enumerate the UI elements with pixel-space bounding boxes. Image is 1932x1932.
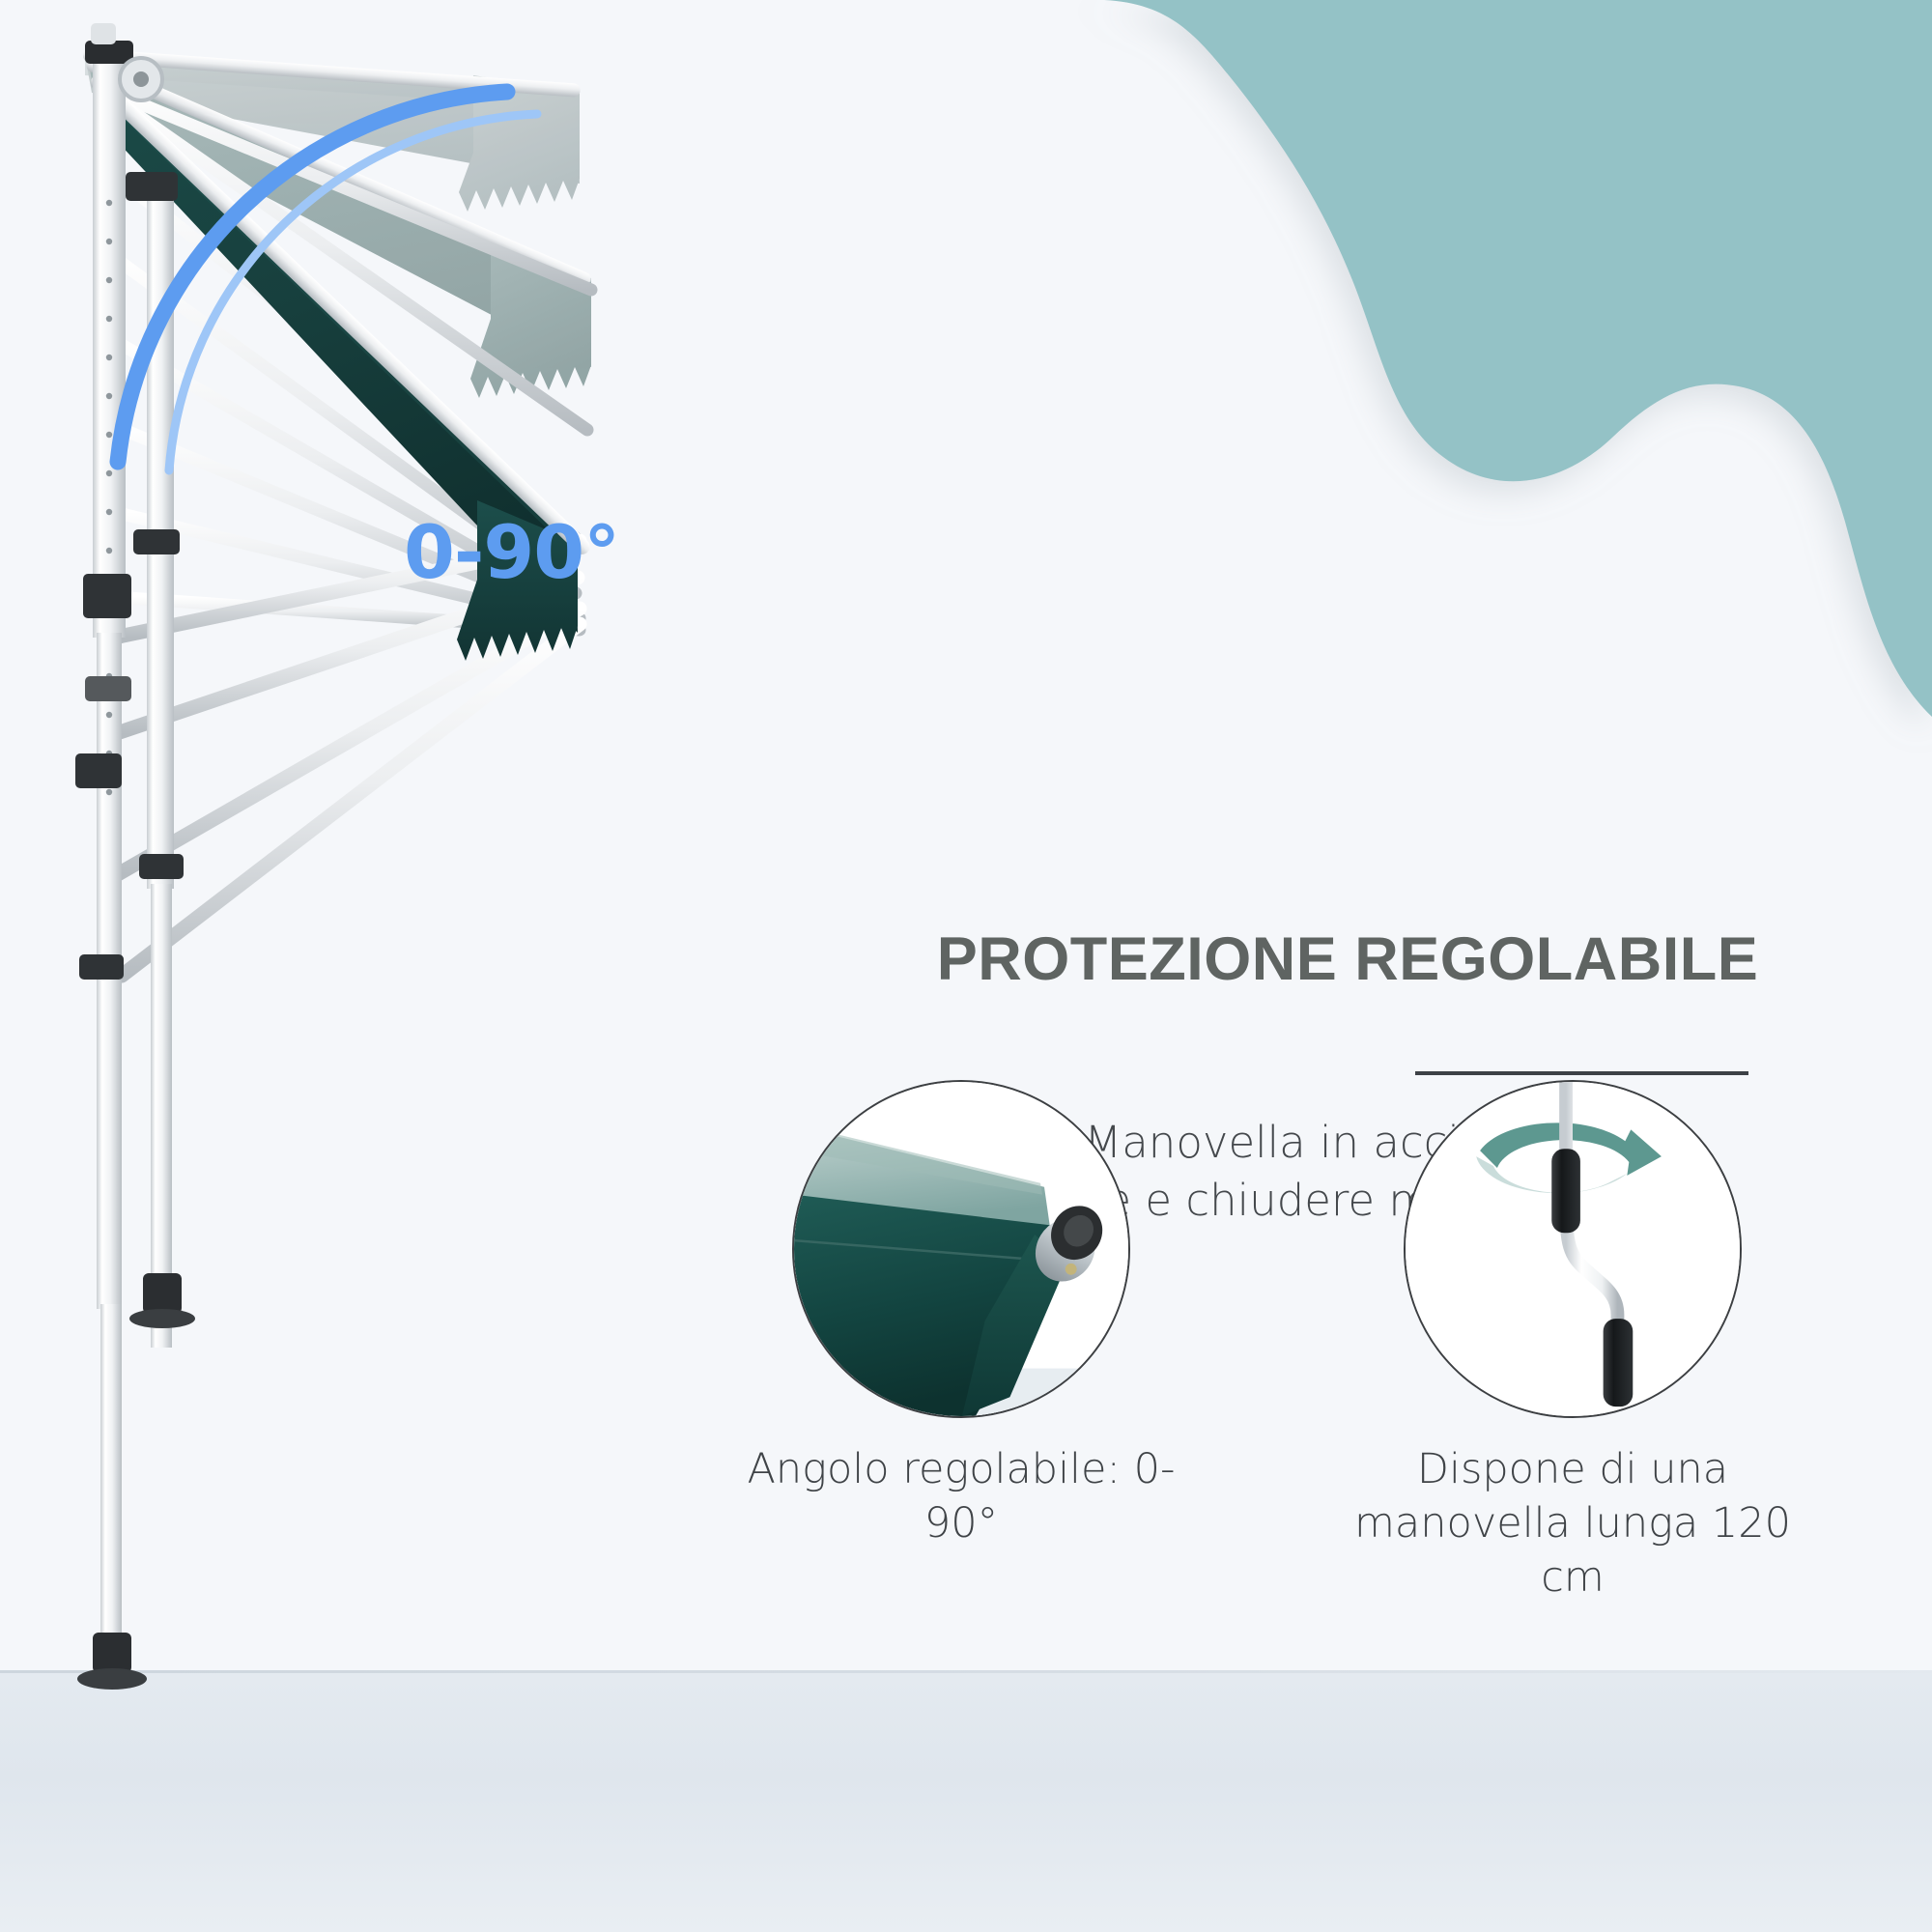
bracket-clamp-a [75,753,122,788]
telescopic-pole-rear [93,58,126,1671]
bracket-clamp-b [139,854,184,879]
inset-awning-joint-caption-line-1: Angolo regolabile: 0-90° [715,1443,1207,1551]
telescopic-pole-front [147,193,174,1348]
floor-band [0,1673,1932,1932]
foot-rear [77,1668,147,1690]
inset-crank-handle-photo [1404,1080,1742,1418]
bracket-mid-c [85,676,131,701]
angle-badge-label: 0-90° [404,516,619,589]
crank-upper-grip [1551,1149,1580,1233]
pole-cap-rear [93,1633,131,1673]
inset-crank-handle: Dispone di una manovella lunga 120 cm [1321,1080,1824,1605]
inset-crank-handle-caption-line-1: Dispone di una [1321,1443,1824,1497]
poster-canvas: 0-90° PROTEZIONE REGOLABILE Manovella in… [0,0,1932,1932]
bracket-mid-b [133,529,180,554]
foot-front [129,1309,195,1328]
bracket-clamp-c [79,954,124,980]
page-title: PROTEZIONE REGOLABILE [811,927,1884,991]
inset-crank-handle-caption-line-2: manovella lunga 120 cm [1321,1497,1824,1605]
inset-awning-joint-caption: Angolo regolabile: 0-90° [715,1443,1207,1551]
inset-crank-handle-caption: Dispone di una manovella lunga 120 cm [1321,1443,1824,1605]
bracket-mid-a [83,574,131,618]
inset-awning-joint: Angolo regolabile: 0-90° [715,1080,1207,1551]
crank-handle-grip [1604,1319,1634,1406]
title-divider [1415,1071,1748,1075]
inset-awning-joint-photo [792,1080,1130,1418]
bracket-upper [126,172,178,201]
pole-cap-front [143,1273,182,1314]
